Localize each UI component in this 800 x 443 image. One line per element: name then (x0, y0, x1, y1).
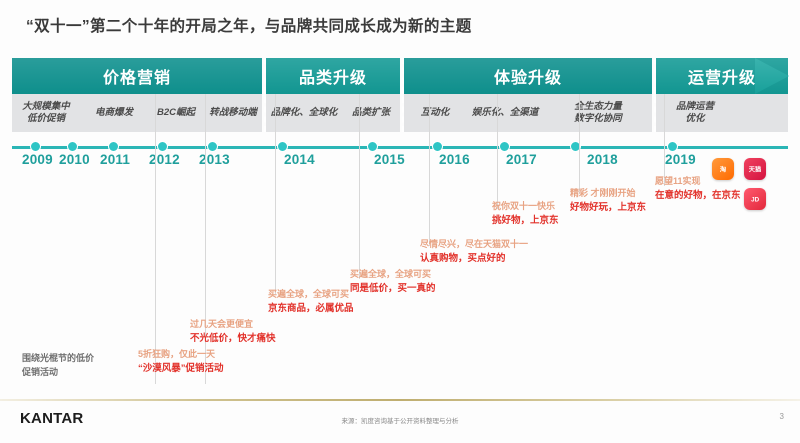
phase-banner-1: 价格营销 (12, 58, 262, 94)
annotation-slogan-primary: 在意的好物，在京东 (655, 189, 741, 203)
annotation-slogan-faded: 尽情尽兴，尽在天猫双十一 (420, 238, 528, 252)
annotation-2014: 买遍全球，全球可买京东商品，必属优品 (268, 288, 354, 316)
sub-label-5: 品牌化、全球化 (266, 94, 342, 132)
source-note: 来源：凯度咨询基于公开资料整理与分析 (342, 415, 459, 425)
annotation-slogan-faded: 买遍全球，全球可买 (350, 268, 436, 282)
phase-banner-label: 运营升级 (688, 64, 756, 88)
phase-banner-label: 体验升级 (494, 64, 562, 88)
phase-separator-2 (402, 58, 404, 132)
kantar-logo: KANTAR (20, 410, 83, 427)
annotation-2018: 精彩 才刚刚开始好物好玩，上京东 (570, 187, 646, 215)
timeline-year-2014: 2014 (284, 152, 315, 167)
timeline-dot-2013[interactable] (207, 141, 218, 152)
guide-line-5 (429, 94, 430, 246)
timeline-dot-2012[interactable] (157, 141, 168, 152)
timeline-year-2011: 2011 (100, 152, 130, 167)
page-number: 3 (780, 412, 784, 421)
annotation-slogan-faded: 精彩 才刚刚开始 (570, 187, 646, 201)
phase-separator-3 (654, 58, 656, 132)
annotation-2013: 过几天会更便宜不光低价，快才痛快 (190, 318, 276, 346)
guide-line-1 (155, 94, 156, 384)
annotation-slogan-faded: 过几天会更便宜 (190, 318, 276, 332)
phase-banner-label: 价格营销 (103, 64, 171, 88)
timeline-dot-2017[interactable] (499, 141, 510, 152)
guide-line-4 (359, 94, 360, 279)
phase-banner-2: 品类升级 (266, 58, 400, 94)
annotation-slogan-primary: 京东商品，必属优品 (268, 302, 354, 316)
annotation-slogan-faded: 祝你双十一快乐 (492, 200, 559, 214)
footer-divider (0, 399, 800, 401)
guide-line-6 (497, 94, 498, 209)
annotation-slogan-primary: 认真购物，买点好的 (420, 252, 528, 266)
annotation-slogan-primary: 不光低价，快才痛快 (190, 332, 276, 346)
phase-banner-row: 运营升级体验升级品类升级价格营销 (12, 58, 788, 94)
taobao-app-icon[interactable]: 淘 (712, 158, 734, 180)
timeline-dot-2016[interactable] (432, 141, 443, 152)
annotation-2017: 祝你双十一快乐挑好物，上京东 (492, 200, 559, 228)
sub-label-9: 全生态力量数字化协同 (544, 94, 652, 132)
timeline-year-2012: 2012 (149, 152, 180, 167)
app-icon-glyph: 天猫 (749, 165, 761, 174)
phase-separator-1 (264, 58, 266, 132)
jd-app-icon[interactable]: JD (744, 188, 766, 210)
annotation-slogan-primary: 挑好物，上京东 (492, 214, 559, 228)
annotation-slogan-faded: 5折狂购，仅此一天 (138, 348, 224, 362)
sub-label-6: 品类扩张 (342, 94, 400, 132)
annotation-slogan-primary: 同是低价，买一真的 (350, 282, 436, 296)
annotation-2016: 尽情尽兴，尽在天猫双十一认真购物，买点好的 (420, 238, 528, 266)
annotation-slogan-primary: “沙漠风暴”促销活动 (138, 362, 224, 376)
phase-banner-label: 品类升级 (299, 64, 367, 88)
sub-label-2: 电商爆发 (80, 94, 148, 132)
sub-label-4: 转战移动端 (204, 94, 262, 132)
timeline-year-2013: 2013 (199, 152, 230, 167)
phase-banner-3: 体验升级 (404, 58, 652, 94)
timeline-year-2015: 2015 (374, 152, 405, 167)
timeline-year-2016: 2016 (439, 152, 470, 167)
sub-label-7: 互动化 (404, 94, 466, 132)
sub-label-3: B2C崛起 (148, 94, 204, 132)
timeline-dot-2019[interactable] (667, 141, 678, 152)
timeline-dot-2014[interactable] (277, 141, 288, 152)
timeline-year-2009: 2009 (22, 152, 53, 167)
timeline-year-2017: 2017 (506, 152, 537, 167)
timeline-year-2018: 2018 (587, 152, 618, 167)
app-icon-glyph: JD (751, 195, 759, 202)
timeline-dot-2015[interactable] (367, 141, 378, 152)
tmall-app-icon[interactable]: 天猫 (744, 158, 766, 180)
page-title: “双十一”第二个十年的开局之年，与品牌共同成长成为新的主题 (26, 14, 472, 36)
timeline-dot-2010[interactable] (67, 141, 78, 152)
app-icon-glyph: 淘 (720, 165, 726, 174)
guide-line-3 (275, 94, 276, 294)
annotation-2015: 买遍全球，全球可买同是低价，买一真的 (350, 268, 436, 296)
timeline-year-2010: 2010 (59, 152, 90, 167)
sub-label-band: 大规模集中低价促销电商爆发B2C崛起转战移动端品牌化、全球化品类扩张互动化娱乐化… (12, 94, 788, 132)
sub-label-1: 大规模集中低价促销 (12, 94, 80, 132)
timeline-dot-2011[interactable] (108, 141, 119, 152)
sub-label-8: 娱乐化、全渠道 (466, 94, 544, 132)
annotation-2012: 5折狂购，仅此一天“沙漠风暴”促销活动 (138, 348, 224, 376)
sub-label-10: 品牌运营优化 (660, 94, 730, 132)
timeline-year-2019: 2019 (665, 152, 696, 167)
guide-line-8 (664, 94, 665, 186)
timeline-dot-2009[interactable] (30, 141, 41, 152)
guide-line-7 (579, 94, 580, 194)
annotation-slogan-primary: 好物好玩，上京东 (570, 201, 646, 215)
annotation-slogan-faded: 买遍全球，全球可买 (268, 288, 354, 302)
slide-canvas: “双十一”第二个十年的开局之年，与品牌共同成长成为新的主题 运营升级体验升级品类… (0, 0, 800, 443)
gray-note-2009: 围绕光棍节的低价促销活动 (22, 352, 94, 380)
